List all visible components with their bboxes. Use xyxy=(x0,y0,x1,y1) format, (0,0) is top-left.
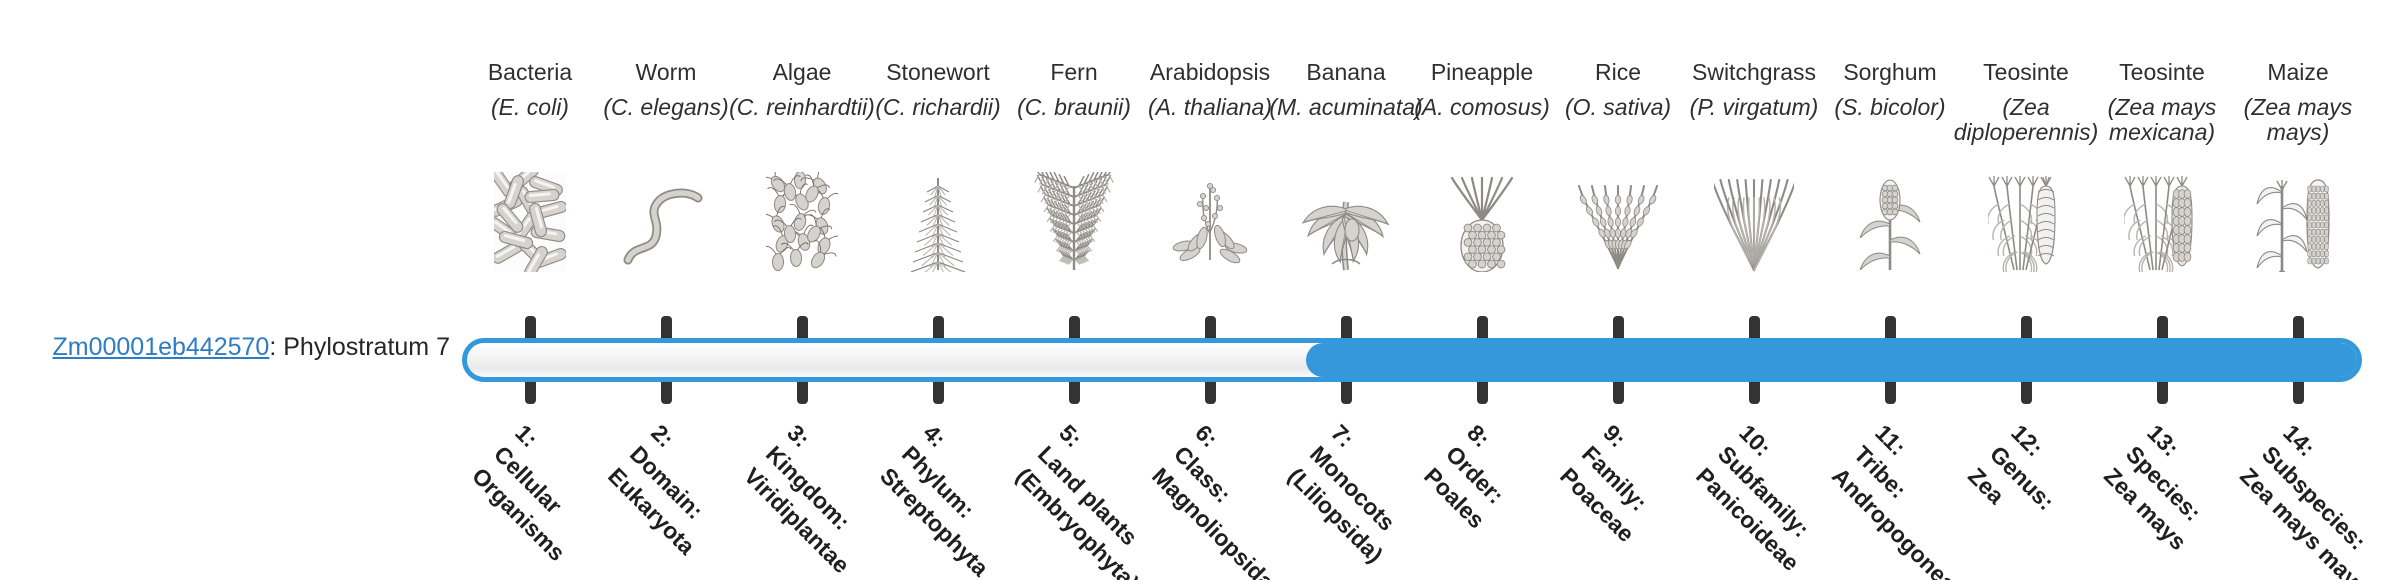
pineapple-fruit-illustration xyxy=(1414,168,1550,272)
phylostratum-bar-track[interactable] xyxy=(462,338,2362,382)
species-column-14: Maize(Zea mays mays)14:Subspecies:Zea ma… xyxy=(2230,0,2366,580)
species-column-13: Teosinte(Zea mays mexicana)13:Species:Ze… xyxy=(2094,0,2230,580)
species-columns: Bacteria(E. coli)1:CellularOrganismsWorm… xyxy=(462,0,2358,580)
species-column-9: Rice(O. sativa)9:Family:Poaceae xyxy=(1550,0,1686,580)
species-column-6: Arabidopsis(A. thaliana)6:Class:Magnolio… xyxy=(1142,0,1278,580)
teosinte-mexicana-plant-and-ear-illustration xyxy=(2094,168,2230,272)
species-common-name: Maize xyxy=(2216,60,2380,86)
species-column-3: Algae(C. reinhardtii)3:Kingdom:Viridipla… xyxy=(734,0,870,580)
stonewort-alga-illustration xyxy=(870,168,1006,272)
species-column-2: Worm(C. elegans)2:Domain:Eukaryota xyxy=(598,0,734,580)
fern-frond-illustration xyxy=(1006,168,1142,272)
rice-plant-illustration xyxy=(1550,168,1686,272)
phylostratum-bar-fill xyxy=(1306,343,2357,377)
species-column-11: Sorghum(S. bicolor)11:Tribe:Andropogonea… xyxy=(1822,0,1958,580)
arabidopsis-rosette-illustration xyxy=(1142,168,1278,272)
banana-plant-illustration xyxy=(1278,168,1414,272)
stratum-label-14: 14:Subspecies:Zea mays mays xyxy=(2234,418,2400,580)
gene-id-link[interactable]: Zm00001eb442570 xyxy=(52,333,269,361)
species-column-1: Bacteria(E. coli)1:CellularOrganisms xyxy=(462,0,598,580)
gene-phylostratum-value: Phylostratum 7 xyxy=(283,333,450,361)
species-column-12: Teosinte(Zea diploperennis)12:Genus:Zea xyxy=(1958,0,2094,580)
phylostratum-bar xyxy=(462,338,2362,382)
species-latin-name: (Zea mays mays) xyxy=(2216,95,2380,146)
switchgrass-clump-illustration xyxy=(1686,168,1822,272)
nematode-worm-illustration xyxy=(598,168,734,272)
phylostratigraphy-figure: Zm00001eb442570: Phylostratum 7 Bacteria… xyxy=(0,0,2400,580)
species-column-8: Pineapple(A. comosus)8:Order:Poales xyxy=(1414,0,1550,580)
species-column-10: Switchgrass(P. virgatum)10:Subfamily:Pan… xyxy=(1686,0,1822,580)
green-algae-cells-illustration xyxy=(734,168,870,272)
bacteria-rods-illustration xyxy=(462,168,598,272)
gene-phylostratum-label: Zm00001eb442570: Phylostratum 7 xyxy=(0,333,450,362)
sorghum-panicle-illustration xyxy=(1822,168,1958,272)
species-column-7: Banana(M. acuminata)7:Monocots(Liliopsid… xyxy=(1278,0,1414,580)
gene-label-separator: : xyxy=(269,333,283,361)
teosinte-plant-and-ear-illustration xyxy=(1958,168,2094,272)
species-column-5: Fern(C. braunii)5:Land plants(Embryophyt… xyxy=(1006,0,1142,580)
species-column-4: Stonewort(C. richardii)4:Phylum:Streptop… xyxy=(870,0,1006,580)
maize-plant-and-cob-illustration xyxy=(2230,168,2366,272)
